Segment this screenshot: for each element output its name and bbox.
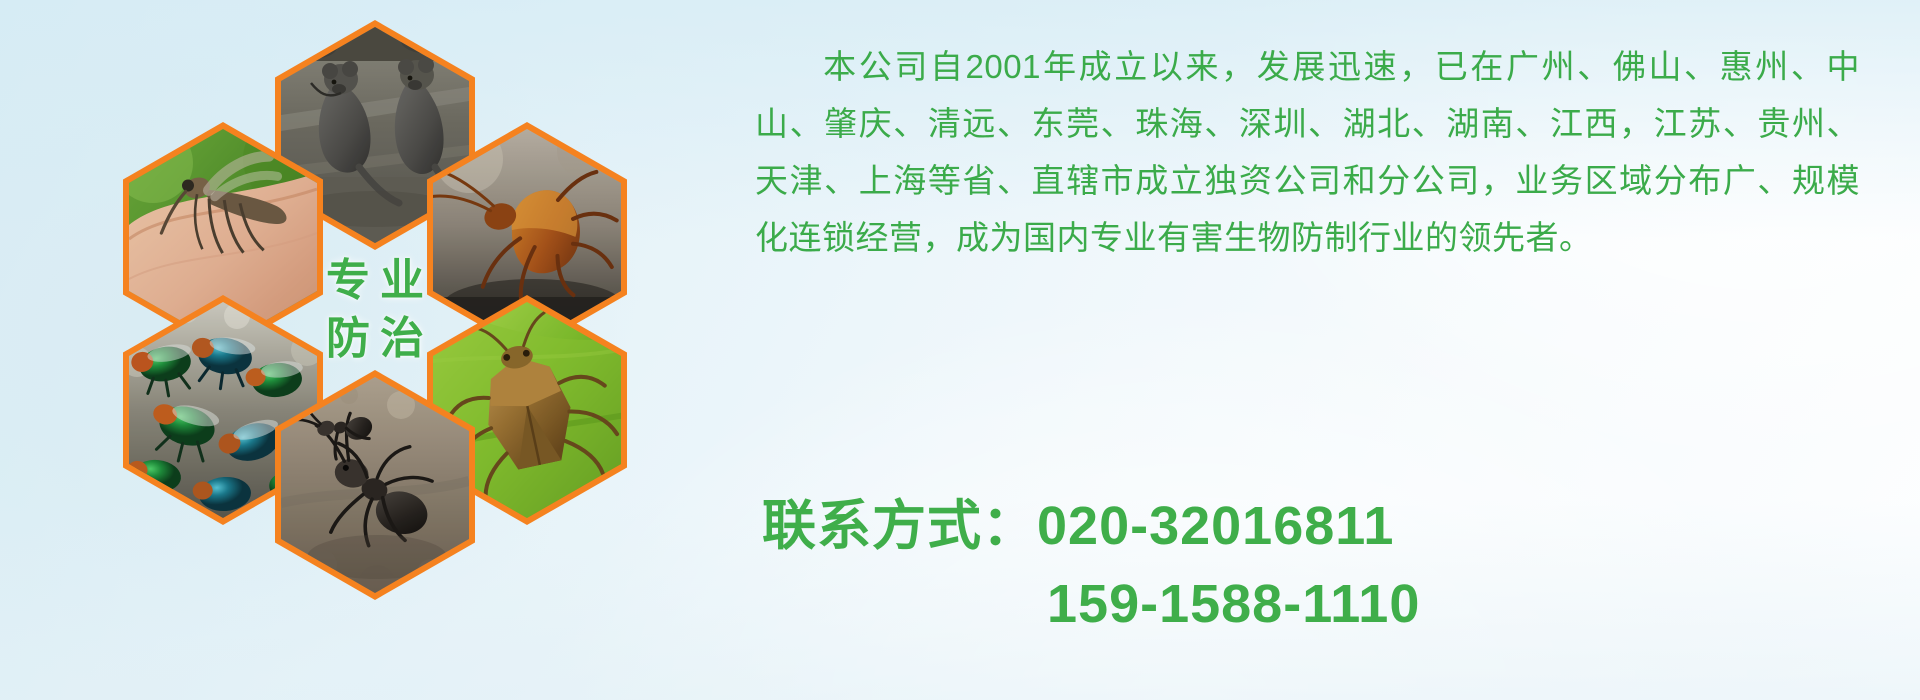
paragraph-line-1: 本公司自2001年成立以来，发展迅速，已在广州、佛山、惠州 — [821, 48, 1791, 85]
contact-block: 联系方式：020-32016811 159-1588-1110 — [762, 487, 1862, 643]
badge-line-2: 防治 — [316, 317, 434, 361]
center-badge: 专业 防治 — [275, 195, 475, 425]
badge-line-1: 专业 — [316, 259, 434, 303]
contact-phone-primary[interactable]: 020-32016811 — [1037, 496, 1394, 556]
rat-left — [311, 61, 399, 203]
company-description: 本公司自2001年成立以来，发展迅速，已在广州、佛山、惠州、中山、肇庆、清远、东… — [755, 38, 1860, 266]
fly-1 — [129, 341, 198, 401]
fly-7 — [192, 475, 252, 513]
contact-secondary-line: 159-1588-1110 — [762, 565, 1862, 643]
paragraph-line-5: 领先者。 — [1459, 219, 1593, 256]
fly-6 — [129, 457, 183, 494]
ant-large — [291, 406, 447, 558]
contact-phone-secondary[interactable]: 159-1588-1110 — [1047, 574, 1420, 634]
fly-4 — [143, 397, 221, 468]
contact-primary-line: 联系方式：020-32016811 — [762, 487, 1862, 565]
fly-2 — [187, 332, 257, 392]
pest-control-banner: 专业 防治 本公司自2001年成立以来，发展迅速，已在广州、佛山、惠州、中山、肇… — [0, 0, 1920, 700]
contact-label: 联系方式： — [762, 496, 1037, 556]
hexagon-image-cluster: 专业 防治 — [95, 0, 715, 700]
